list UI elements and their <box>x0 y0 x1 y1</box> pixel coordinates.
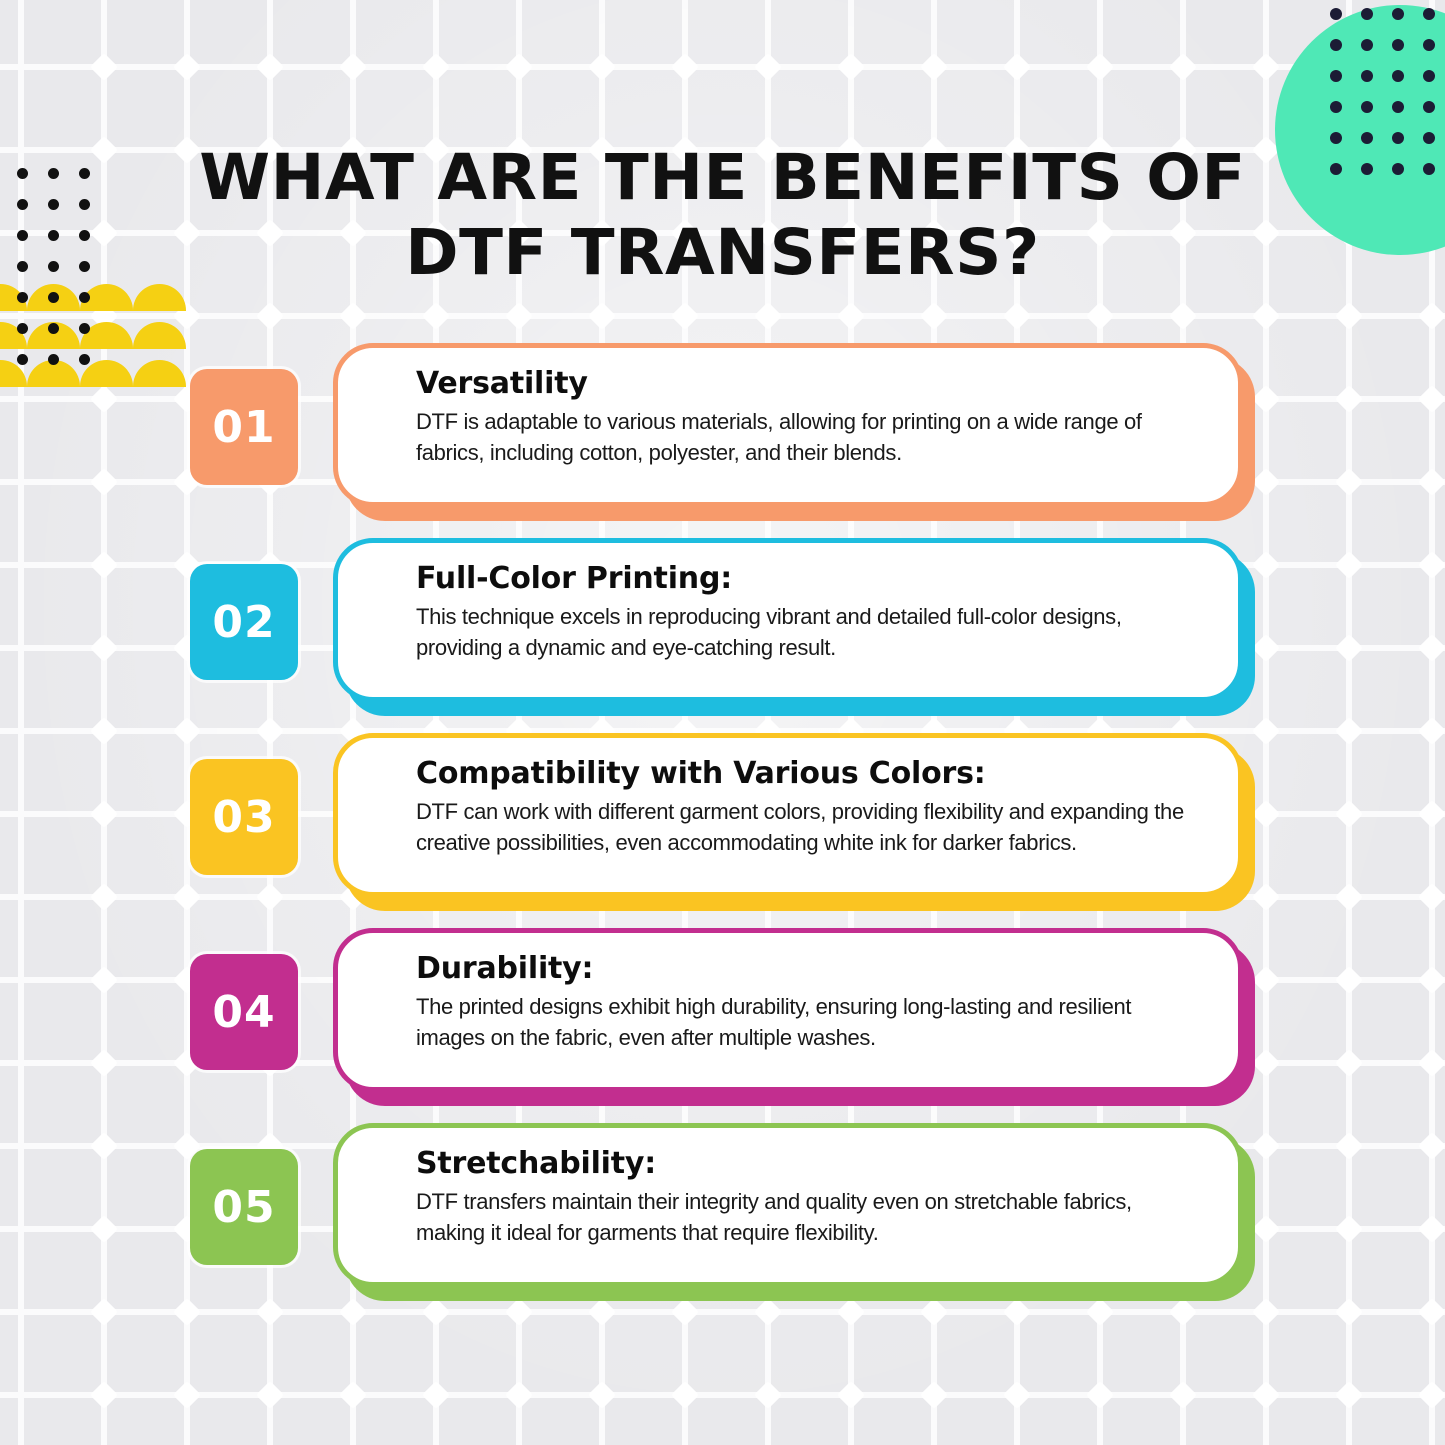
grid-diamond <box>505 1381 533 1409</box>
grid-diamond <box>1169 302 1197 330</box>
card-title: Durability: <box>416 949 1204 989</box>
grid-diamond <box>754 1381 782 1409</box>
step-number-badge: 05 <box>190 1149 298 1265</box>
decor-dot <box>1423 101 1435 113</box>
decor-dot <box>1330 101 1342 113</box>
decor-dot <box>79 261 90 272</box>
decor-dot <box>17 199 28 210</box>
grid-diamond <box>1086 302 1114 330</box>
decor-dot <box>79 199 90 210</box>
card-body: Stretchability:DTF transfers maintain th… <box>333 1123 1243 1287</box>
decor-dot <box>17 323 28 334</box>
grid-diamond <box>920 53 948 81</box>
card-body: Compatibility with Various Colors:DTF ca… <box>333 733 1243 897</box>
decor-dot <box>48 323 59 334</box>
grid-diamond <box>1252 53 1280 81</box>
grid-diamond <box>837 53 865 81</box>
decor-dot <box>1423 70 1435 82</box>
grid-diamond <box>339 302 367 330</box>
grid-diamond <box>837 1381 865 1409</box>
decor-dot <box>1423 163 1435 175</box>
card-title: Versatility <box>416 364 1204 404</box>
decor-dot <box>79 292 90 303</box>
grid-diamond <box>1003 53 1031 81</box>
card-description: DTF can work with different garment colo… <box>416 796 1204 858</box>
card-title: Stretchability: <box>416 1144 1204 1184</box>
card-description: The printed designs exhibit high durabil… <box>416 991 1204 1053</box>
decor-dot <box>1330 70 1342 82</box>
benefit-row: 02Full-Color Printing:This technique exc… <box>0 538 1445 733</box>
benefits-list: 01VersatilityDTF is adaptable to various… <box>0 343 1445 1318</box>
decor-dot <box>1361 39 1373 51</box>
decor-dot <box>79 168 90 179</box>
grid-diamond <box>754 302 782 330</box>
step-number-badge: 04 <box>190 954 298 1070</box>
grid-diamond <box>422 1381 450 1409</box>
decor-dot <box>17 230 28 241</box>
grid-diamond <box>1252 1381 1280 1409</box>
grid-diamond <box>671 302 699 330</box>
grid-diamond <box>90 53 118 81</box>
decor-dot <box>79 323 90 334</box>
decor-dot <box>17 292 28 303</box>
decor-dot <box>1423 39 1435 51</box>
card-title: Compatibility with Various Colors: <box>416 754 1204 794</box>
grid-diamond <box>1335 1381 1363 1409</box>
grid-diamond <box>1418 1381 1445 1409</box>
grid-diamond <box>671 53 699 81</box>
card-body: VersatilityDTF is adaptable to various m… <box>333 343 1243 507</box>
decor-dot <box>48 292 59 303</box>
decor-dot <box>48 168 59 179</box>
decor-dot <box>1392 101 1404 113</box>
decor-dot <box>1361 70 1373 82</box>
benefit-row: 01VersatilityDTF is adaptable to various… <box>0 343 1445 538</box>
grid-diamond <box>920 1381 948 1409</box>
decor-dot <box>1361 101 1373 113</box>
grid-diamond <box>1003 302 1031 330</box>
step-number-badge: 02 <box>190 564 298 680</box>
grid-diamond <box>256 1381 284 1409</box>
grid-diamond <box>837 302 865 330</box>
card-description: This technique excels in reproducing vib… <box>416 601 1204 663</box>
grid-diamond <box>1169 1381 1197 1409</box>
grid-diamond <box>920 302 948 330</box>
grid-diamond <box>671 1381 699 1409</box>
grid-diamond <box>1169 53 1197 81</box>
card-description: DTF transfers maintain their integrity a… <box>416 1186 1204 1248</box>
grid-diamond <box>90 1381 118 1409</box>
grid-diamond <box>256 302 284 330</box>
grid-diamond <box>339 1381 367 1409</box>
decor-dot <box>79 230 90 241</box>
grid-diamond <box>339 53 367 81</box>
grid-diamond <box>588 302 616 330</box>
decor-dot <box>1392 39 1404 51</box>
grid-diamond <box>1252 302 1280 330</box>
grid-diamond <box>173 53 201 81</box>
decor-dot <box>1423 132 1435 144</box>
grid-diamond <box>1086 1381 1114 1409</box>
decor-dot <box>1361 163 1373 175</box>
grid-diamond <box>90 136 118 164</box>
benefit-row: 03Compatibility with Various Colors:DTF … <box>0 733 1445 928</box>
decor-dot <box>1330 163 1342 175</box>
grid-diamond <box>1003 1381 1031 1409</box>
benefit-card[interactable]: Stretchability:DTF transfers maintain th… <box>333 1123 1255 1301</box>
grid-diamond <box>90 219 118 247</box>
decor-dot <box>1423 8 1435 20</box>
decor-dot <box>1392 70 1404 82</box>
benefit-card[interactable]: Durability:The printed designs exhibit h… <box>333 928 1255 1106</box>
benefit-card[interactable]: Compatibility with Various Colors:DTF ca… <box>333 733 1255 911</box>
grid-diamond <box>256 53 284 81</box>
decor-dot <box>1392 132 1404 144</box>
page-title: WHAT ARE THE BENEFITS OF DTF TRANSFERS? <box>159 140 1286 290</box>
grid-diamond <box>422 302 450 330</box>
grid-diamond <box>588 53 616 81</box>
grid-diamond <box>422 53 450 81</box>
grid-diamond <box>588 1381 616 1409</box>
decor-dot <box>1361 132 1373 144</box>
grid-diamond <box>1335 302 1363 330</box>
decor-dot <box>48 199 59 210</box>
decor-dot <box>48 230 59 241</box>
decor-dot <box>1392 8 1404 20</box>
decor-dot <box>17 261 28 272</box>
grid-diamond <box>1418 302 1445 330</box>
benefit-card[interactable]: VersatilityDTF is adaptable to various m… <box>333 343 1255 521</box>
grid-diamond <box>1086 53 1114 81</box>
decor-dot <box>1330 8 1342 20</box>
card-title: Full-Color Printing: <box>416 559 1204 599</box>
decor-dot <box>48 261 59 272</box>
decor-dot <box>17 168 28 179</box>
grid-diamond <box>505 302 533 330</box>
grid-diamond <box>754 53 782 81</box>
decor-dot <box>1330 132 1342 144</box>
step-number-badge: 03 <box>190 759 298 875</box>
grid-diamond <box>505 53 533 81</box>
decor-dot <box>1392 163 1404 175</box>
grid-diamond <box>173 1381 201 1409</box>
benefit-card[interactable]: Full-Color Printing:This technique excel… <box>333 538 1255 716</box>
step-number-badge: 01 <box>190 369 298 485</box>
card-body: Full-Color Printing:This technique excel… <box>333 538 1243 702</box>
decor-dot <box>1330 39 1342 51</box>
card-body: Durability:The printed designs exhibit h… <box>333 928 1243 1092</box>
benefit-row: 05Stretchability:DTF transfers maintain … <box>0 1123 1445 1318</box>
decor-dot <box>1361 8 1373 20</box>
card-description: DTF is adaptable to various materials, a… <box>416 406 1204 468</box>
benefit-row: 04Durability:The printed designs exhibit… <box>0 928 1445 1123</box>
